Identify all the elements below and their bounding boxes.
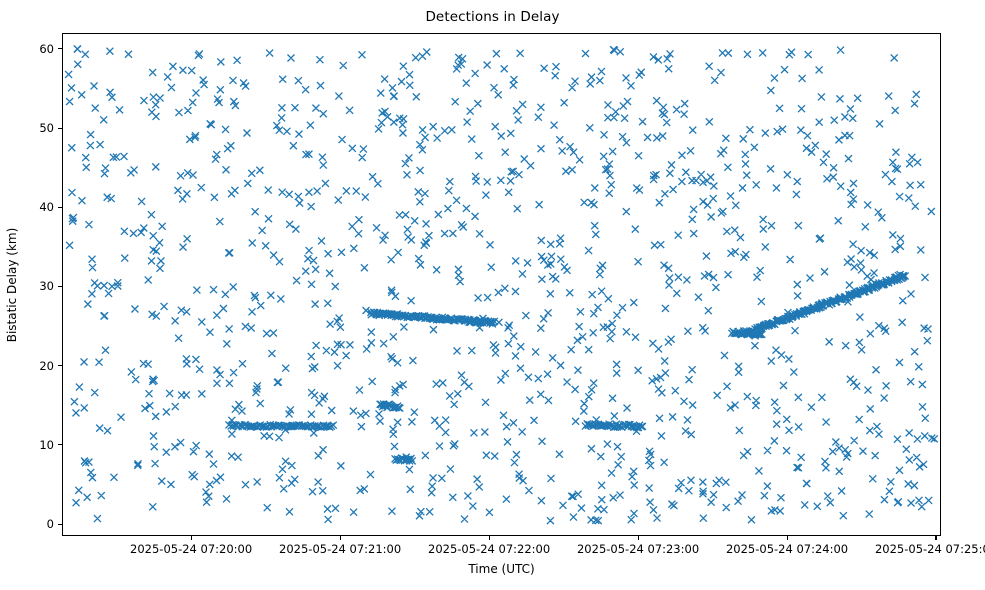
- x-tick-mark: [787, 536, 788, 540]
- x-tick-mark: [638, 536, 639, 540]
- y-axis-label-wrap: Bistatic Delay (km): [0, 0, 22, 590]
- x-tick-mark: [340, 536, 341, 540]
- x-tick-label: 2025-05-24 07:20:00: [130, 543, 252, 556]
- x-tick-label: 2025-05-24 07:21:00: [279, 543, 401, 556]
- x-tick-label: 2025-05-24 07:24:00: [726, 543, 848, 556]
- x-tick-mark: [935, 536, 936, 540]
- x-tick-mark: [489, 536, 490, 540]
- x-tick-mark: [191, 536, 192, 540]
- x-axis-ticks: 2025-05-24 07:20:002025-05-24 07:21:0020…: [0, 0, 985, 590]
- x-tick-label: 2025-05-24 07:22:00: [428, 543, 550, 556]
- matplotlib-figure: Detections in Delay 0102030405060 2025-0…: [0, 0, 985, 590]
- y-axis-label: Bistatic Delay (km): [5, 50, 19, 520]
- x-tick-label: 2025-05-24 07:23:00: [577, 543, 699, 556]
- x-axis-label: Time (UTC): [62, 562, 941, 576]
- x-tick-label: 2025-05-24 07:25:00: [875, 543, 985, 556]
